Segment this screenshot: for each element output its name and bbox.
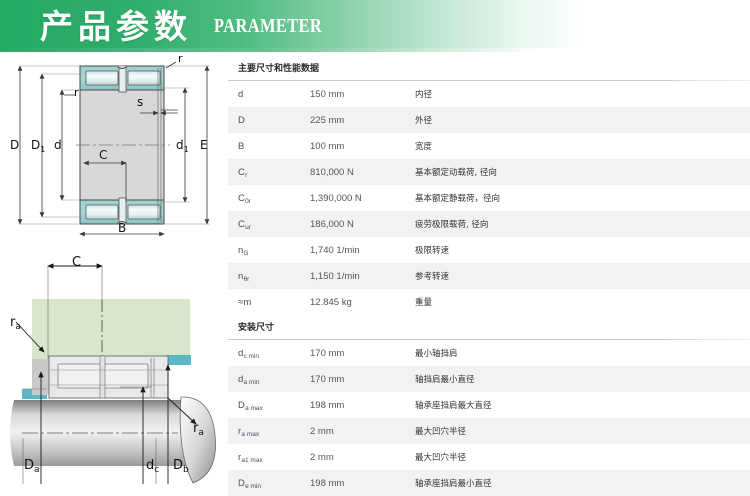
parameter-value: 2 mm xyxy=(310,452,415,463)
parameter-symbol-subscript: a1 max xyxy=(241,457,262,464)
label-D1: D1 xyxy=(31,138,45,154)
parameter-symbol-subscript: ur xyxy=(245,224,251,231)
table-row: ra max2 mm最大凹穴半径 xyxy=(228,418,750,444)
parameter-description: 基本额定静载荷，径向 xyxy=(415,192,750,204)
table-row: ra1 max2 mm最大凹穴半径 xyxy=(228,444,750,470)
housing-block xyxy=(32,299,190,359)
parameter-symbol: Da max xyxy=(238,400,310,411)
parameter-table: 主要尺寸和性能数据 d150 mm内径D225 mm外径B100 mm宽度Cr8… xyxy=(228,56,750,489)
parameter-symbol: ≈m xyxy=(238,297,310,308)
parameter-symbol-subscript: a min xyxy=(243,379,259,386)
table-row: C0r1,390,000 N基本额定静载荷，径向 xyxy=(228,185,750,211)
parameter-symbol: C0r xyxy=(238,193,310,204)
parameter-description: 轴挡肩最小直径 xyxy=(415,373,750,385)
parameter-description: 最小轴挡肩 xyxy=(415,347,750,359)
parameter-symbol: nθr xyxy=(238,271,310,282)
parameter-value: 100 mm xyxy=(310,141,415,152)
label-r-left: r xyxy=(74,86,79,99)
parameter-value: 1,150 1/min xyxy=(310,271,415,282)
label-ra-left: ra xyxy=(10,315,21,332)
page-banner: 产品参数 PARAMETER xyxy=(0,0,750,52)
parameter-value: 12.845 kg xyxy=(310,297,415,308)
drawings-column: D D1 d d1 E B C s r r xyxy=(0,52,226,489)
parameter-symbol: Cr xyxy=(238,167,310,178)
table-row: da min170 mm轴挡肩最小直径 xyxy=(228,366,750,392)
table-row: dc min170 mm最小轴挡肩 xyxy=(228,340,750,366)
parameter-symbol-subscript: r xyxy=(245,172,247,179)
parameter-description: 最大凹穴半径 xyxy=(415,425,750,437)
parameter-symbol-subscript: θr xyxy=(243,276,249,283)
table-row: Cr810,000 N基本额定动载荷, 径向 xyxy=(228,159,750,185)
parameter-value: 150 mm xyxy=(310,89,415,100)
parameter-value: 1,390,000 N xyxy=(310,193,415,204)
parameter-description: 极限转速 xyxy=(415,244,750,256)
parameter-symbol: nG xyxy=(238,245,310,256)
parameter-description: 轴承座挡肩最大直径 xyxy=(415,399,750,411)
label-C: C xyxy=(99,148,107,162)
parameter-symbol-subscript: e min xyxy=(245,483,261,490)
parameter-symbol-subscript: c min xyxy=(243,353,259,360)
page-title-cn: 产品参数 xyxy=(40,10,192,43)
table-row: B100 mm宽度 xyxy=(228,133,750,159)
label-d: d xyxy=(54,138,62,152)
parameter-symbol: d xyxy=(238,89,310,100)
table-rows-mounting: dc min170 mm最小轴挡肩da min170 mm轴挡肩最小直径Da m… xyxy=(228,340,750,496)
parameter-value: 186,000 N xyxy=(310,219,415,230)
table-row: D225 mm外径 xyxy=(228,107,750,133)
table-row: De min198 mm轴承座挡肩最小直径 xyxy=(228,470,750,496)
parameter-description: 宽度 xyxy=(415,140,750,152)
table-row: Cur186,000 N疲劳极限载荷, 径向 xyxy=(228,211,750,237)
parameter-value: 2 mm xyxy=(310,426,415,437)
bearing-mounting-diagram: C ra ra Da dc Db xyxy=(0,252,226,489)
parameter-description: 最大凹穴半径 xyxy=(415,451,750,463)
label-D: D xyxy=(10,138,19,152)
parameter-symbol-subscript: a max xyxy=(241,431,259,438)
bearing-assembly xyxy=(49,356,168,398)
parameter-description: 基本额定动载荷, 径向 xyxy=(415,166,750,178)
parameter-description: 轴承座挡肩最小直径 xyxy=(415,477,750,489)
parameter-description: 疲劳极限载荷, 径向 xyxy=(415,218,750,230)
parameter-symbol-subscript: G xyxy=(243,250,248,257)
parameter-value: 198 mm xyxy=(310,400,415,411)
parameter-value: 1,740 1/min xyxy=(310,245,415,256)
parameter-symbol-subscript: 0r xyxy=(245,198,251,205)
seat-pad-right xyxy=(166,355,191,365)
parameter-description: 参考转速 xyxy=(415,270,750,282)
bearing-body xyxy=(76,66,170,224)
table-row: ≈m12.845 kg重量 xyxy=(228,289,750,315)
parameter-value: 170 mm xyxy=(310,348,415,359)
parameter-symbol-subscript: a max xyxy=(245,405,263,412)
table-row: nG1,740 1/min极限转速 xyxy=(228,237,750,263)
parameter-value: 225 mm xyxy=(310,115,415,126)
page-title-en: PARAMETER xyxy=(214,15,322,38)
parameter-symbol: ra max xyxy=(238,426,310,437)
parameter-description: 内径 xyxy=(415,88,750,100)
parameter-symbol: De min xyxy=(238,478,310,489)
parameter-description: 重量 xyxy=(415,296,750,308)
table-row: nθr1,150 1/min参考转速 xyxy=(228,263,750,289)
parameter-symbol: Cur xyxy=(238,219,310,230)
table-row: Da max198 mm轴承座挡肩最大直径 xyxy=(228,392,750,418)
parameter-value: 170 mm xyxy=(310,374,415,385)
parameter-value: 198 mm xyxy=(310,478,415,489)
label-r-top: r xyxy=(178,52,183,65)
parameter-value: 810,000 N xyxy=(310,167,415,178)
table-rows-main: d150 mm内径D225 mm外径B100 mm宽度Cr810,000 N基本… xyxy=(228,81,750,315)
label-C-bottom: C xyxy=(72,255,81,270)
table-row: d150 mm内径 xyxy=(228,81,750,107)
parameter-symbol: dc min xyxy=(238,348,310,359)
parameter-description: 外径 xyxy=(415,114,750,126)
parameter-symbol: B xyxy=(238,141,310,152)
parameter-symbol: D xyxy=(238,115,310,126)
banner-title-group: 产品参数 PARAMETER xyxy=(40,0,346,52)
section-title-main-dimensions: 主要尺寸和性能数据 xyxy=(228,56,750,80)
label-d1: d1 xyxy=(176,138,189,154)
parameter-symbol: ra1 max xyxy=(238,452,310,463)
section-title-mounting-dimensions: 安装尺寸 xyxy=(228,315,750,339)
parameter-symbol: da min xyxy=(238,374,310,385)
bearing-cross-section: D D1 d d1 E B C s r r xyxy=(0,52,226,252)
product-parameter-page: 产品参数 PARAMETER xyxy=(0,0,750,489)
label-B: B xyxy=(118,221,126,235)
label-E: E xyxy=(200,138,208,152)
label-s: s xyxy=(137,95,143,109)
